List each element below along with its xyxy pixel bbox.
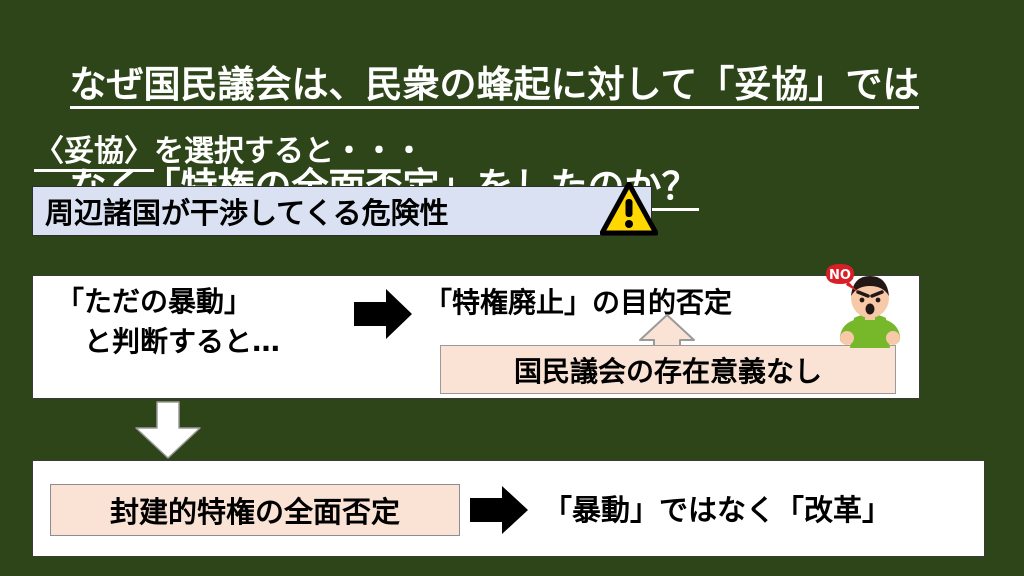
warning-triangle-icon [600,182,658,236]
middle-left-line-1: 「ただの暴動」 [56,285,252,318]
middle-left-text: 「ただの暴動」 と判断すると… [56,282,280,362]
callout-box-no-significance: 国民議会の存在意義なし [440,345,896,394]
bottom-right-text: 「暴動」ではなく「改革」 [543,487,891,529]
risk-banner-label: 周辺諸国が干渉してくる危険性 [45,190,449,232]
slide-canvas: なぜ国民議会は、民衆の蜂起に対して「妥協」では なく「特権の全面否定」をしたのか… [0,0,1024,576]
angry-person-no-icon: NO [824,258,916,350]
subtitle: 〈妥協〉を選択すると・・・ [34,126,424,170]
highlight-box-label: 封建的特権の全面否定 [110,489,400,531]
subtitle-emphasis: 〈妥協〉 [34,134,154,172]
middle-left-line-2: と判断すると… [56,325,280,358]
no-bubble-text: NO [829,268,851,283]
risk-banner: 周辺諸国が干渉してくる危険性 [32,186,652,236]
arrow-right-icon [470,485,528,535]
callout-box-label: 国民議会の存在意義なし [514,350,822,390]
subtitle-rest: を選択すると・・・ [154,134,424,169]
highlight-box-full-denial: 封建的特権の全面否定 [50,484,460,536]
title-line-1: なぜ国民議会は、民衆の蜂起に対して「妥協」では [70,63,920,109]
arrow-down-icon [132,400,204,460]
arrow-right-icon [354,288,412,340]
